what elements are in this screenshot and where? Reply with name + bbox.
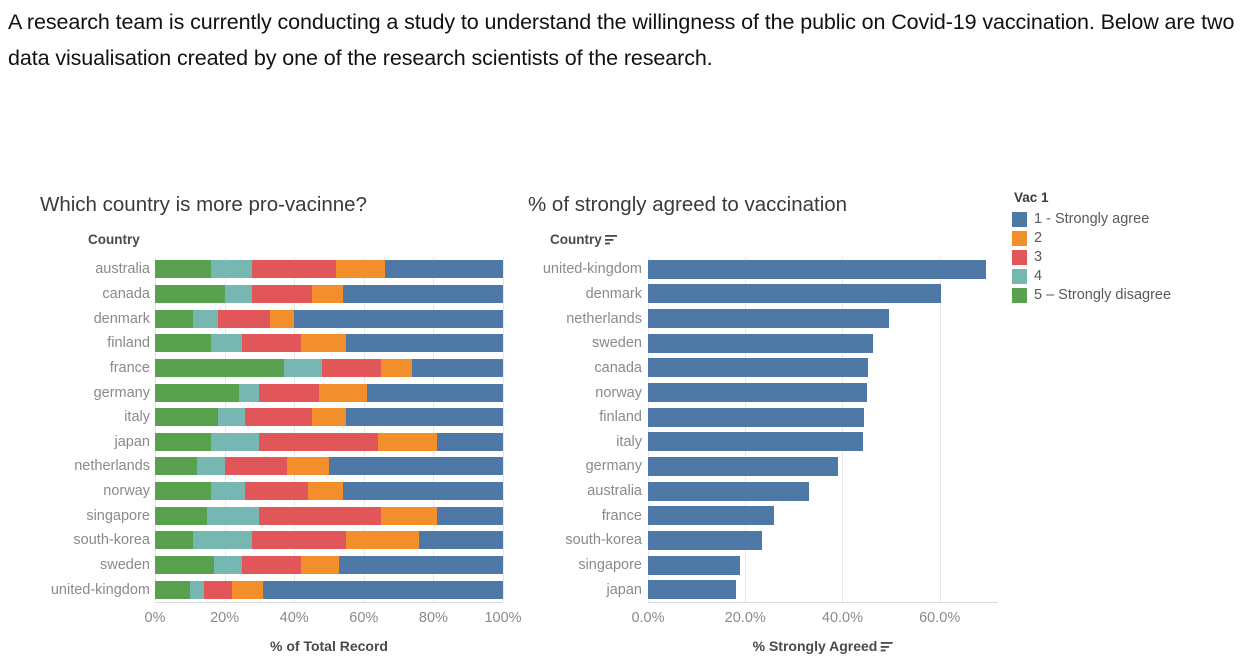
- bar-segment[interactable]: [270, 310, 294, 328]
- legend-item-label: 1 - Strongly agree: [1034, 211, 1149, 227]
- y-axis-label: finland: [0, 336, 150, 351]
- bar-segment[interactable]: [284, 359, 322, 377]
- bar-segment[interactable]: [381, 359, 412, 377]
- legend-item[interactable]: 1 - Strongly agree: [1012, 211, 1246, 227]
- y-axis-label: netherlands: [0, 459, 150, 474]
- bar-segment[interactable]: [346, 334, 503, 352]
- bar-segment[interactable]: [259, 384, 318, 402]
- x-axis-line: [648, 602, 998, 603]
- bar-segment[interactable]: [245, 408, 311, 426]
- bar-segment[interactable]: [245, 482, 308, 500]
- bar-segment[interactable]: [155, 334, 211, 352]
- bar-segment[interactable]: [412, 359, 502, 377]
- bar-row[interactable]: [648, 309, 998, 328]
- bar-segment[interactable]: [648, 580, 736, 599]
- left-chart-row-header-label: Country: [88, 232, 140, 247]
- y-axis-label: denmark: [520, 287, 642, 302]
- intro-paragraph: A research team is currently conducting …: [8, 4, 1238, 76]
- right-chart-row-header[interactable]: Country: [550, 232, 618, 248]
- bar-row[interactable]: [155, 359, 503, 377]
- bar-segment[interactable]: [312, 408, 347, 426]
- legend-item-label: 4: [1034, 268, 1042, 284]
- bar-segment[interactable]: [346, 408, 503, 426]
- bar-segment[interactable]: [648, 358, 868, 377]
- y-axis-label: denmark: [0, 312, 150, 327]
- bar-segment[interactable]: [437, 433, 503, 451]
- y-axis-label: italy: [520, 435, 642, 450]
- bar-segment[interactable]: [648, 556, 740, 575]
- x-axis-title[interactable]: % Strongly Agreed: [753, 638, 894, 655]
- bar-row[interactable]: [648, 457, 998, 476]
- legend-items: 1 - Strongly agree2345 – Strongly disagr…: [1012, 211, 1246, 303]
- bar-row[interactable]: [648, 383, 998, 402]
- bar-row[interactable]: [155, 433, 503, 451]
- bar-segment[interactable]: [648, 309, 889, 328]
- legend-item-label: 3: [1034, 249, 1042, 265]
- x-axis-title-label: % Strongly Agreed: [753, 638, 878, 654]
- bar-segment[interactable]: [301, 556, 339, 574]
- bar-segment[interactable]: [211, 334, 242, 352]
- right-chart-plot-area: [648, 257, 998, 602]
- y-axis-label: germany: [0, 386, 150, 401]
- bar-segment[interactable]: [308, 482, 343, 500]
- bar-row[interactable]: [648, 556, 998, 575]
- bar-row[interactable]: [155, 285, 503, 303]
- y-axis-label: sweden: [0, 558, 150, 573]
- bar-segment[interactable]: [207, 507, 259, 525]
- bar-segment[interactable]: [339, 556, 503, 574]
- bar-segment[interactable]: [242, 334, 301, 352]
- legend-item[interactable]: 4: [1012, 268, 1246, 284]
- bar-segment[interactable]: [287, 457, 329, 475]
- x-axis-line: [155, 602, 503, 603]
- bar-segment[interactable]: [648, 284, 941, 303]
- bar-segment[interactable]: [155, 359, 284, 377]
- bar-segment[interactable]: [346, 531, 419, 549]
- right-chart-panel: % of strongly agreed to vaccination Coun…: [520, 185, 1010, 665]
- bar-segment[interactable]: [155, 433, 211, 451]
- bar-row[interactable]: [155, 507, 503, 525]
- x-axis-tick-label: 40%: [280, 610, 309, 626]
- bar-segment[interactable]: [648, 482, 809, 501]
- y-axis-label: canada: [520, 361, 642, 376]
- bar-segment[interactable]: [155, 260, 211, 278]
- bar-segment[interactable]: [155, 507, 207, 525]
- x-axis-title-label: % of Total Record: [270, 638, 388, 654]
- bar-row[interactable]: [648, 506, 998, 525]
- left-chart-title: Which country is more pro-vacinne?: [40, 193, 367, 217]
- y-axis-label: canada: [0, 287, 150, 302]
- bar-segment[interactable]: [648, 334, 873, 353]
- bar-segment[interactable]: [648, 408, 864, 427]
- y-axis-label: australia: [520, 484, 642, 499]
- bar-segment[interactable]: [301, 334, 346, 352]
- left-chart-row-header: Country: [88, 232, 140, 247]
- bar-segment[interactable]: [155, 482, 211, 500]
- bar-segment[interactable]: [252, 260, 336, 278]
- bar-row[interactable]: [155, 260, 503, 278]
- bar-segment[interactable]: [648, 432, 863, 451]
- bar-segment[interactable]: [343, 285, 503, 303]
- bar-segment[interactable]: [648, 506, 774, 525]
- bar-segment[interactable]: [259, 433, 377, 451]
- y-axis-label: italy: [0, 410, 150, 425]
- y-axis-label: japan: [520, 583, 642, 598]
- left-chart-plot-area: [155, 257, 503, 602]
- bar-segment[interactable]: [336, 260, 385, 278]
- y-axis-label: finland: [520, 410, 642, 425]
- x-axis-tick-label: 100%: [484, 610, 521, 626]
- bar-segment[interactable]: [252, 531, 346, 549]
- bar-row[interactable]: [155, 408, 503, 426]
- x-axis-title: % of Total Record: [270, 638, 388, 654]
- bar-segment[interactable]: [648, 457, 838, 476]
- legend-panel: Vac 1 1 - Strongly agree2345 – Strongly …: [1012, 190, 1246, 330]
- legend-item[interactable]: 5 – Strongly disagree: [1012, 287, 1246, 303]
- y-axis-label: norway: [520, 386, 642, 401]
- x-axis-tick-label: 60.0%: [919, 610, 960, 626]
- bar-segment[interactable]: [378, 433, 437, 451]
- bar-row[interactable]: [648, 358, 998, 377]
- y-axis-label: south-korea: [520, 533, 642, 548]
- bar-segment[interactable]: [252, 285, 311, 303]
- bar-segment[interactable]: [214, 556, 242, 574]
- right-chart-title: % of strongly agreed to vaccination: [528, 193, 847, 217]
- bar-segment[interactable]: [193, 310, 217, 328]
- legend-item-label: 2: [1034, 230, 1042, 246]
- bar-row[interactable]: [155, 556, 503, 574]
- bar-segment[interactable]: [211, 482, 246, 500]
- bar-segment[interactable]: [419, 531, 503, 549]
- y-axis-label: singapore: [0, 509, 150, 524]
- bar-segment[interactable]: [225, 285, 253, 303]
- y-axis-label: netherlands: [520, 312, 642, 327]
- legend-swatch-icon: [1012, 269, 1027, 284]
- y-axis-label: australia: [0, 262, 150, 277]
- y-axis-label: france: [520, 509, 642, 524]
- legend-swatch-icon: [1012, 288, 1027, 303]
- y-axis-label: united-kingdom: [520, 262, 642, 277]
- bar-segment[interactable]: [263, 581, 503, 599]
- x-axis-tick-label: 20.0%: [725, 610, 766, 626]
- bar-row[interactable]: [648, 260, 998, 279]
- bar-row[interactable]: [648, 580, 998, 599]
- left-chart-panel: Which country is more pro-vacinne? Count…: [0, 185, 520, 665]
- bar-segment[interactable]: [648, 383, 867, 402]
- gridline: [503, 257, 504, 602]
- bar-row[interactable]: [155, 384, 503, 402]
- bar-segment[interactable]: [155, 556, 214, 574]
- x-axis-tick-label: 0.0%: [631, 610, 664, 626]
- y-axis-label: germany: [520, 459, 642, 474]
- bar-segment[interactable]: [319, 384, 368, 402]
- bar-segment[interactable]: [218, 310, 270, 328]
- bar-segment[interactable]: [155, 408, 218, 426]
- x-axis-tick-label: 60%: [349, 610, 378, 626]
- bar-segment[interactable]: [155, 531, 193, 549]
- bar-row[interactable]: [648, 408, 998, 427]
- bar-row[interactable]: [155, 482, 503, 500]
- bar-segment[interactable]: [190, 581, 204, 599]
- right-chart-row-header-label: Country: [550, 232, 602, 247]
- x-axis-tick-label: 40.0%: [822, 610, 863, 626]
- bar-segment[interactable]: [367, 384, 503, 402]
- bar-segment[interactable]: [155, 581, 190, 599]
- legend-item-label: 5 – Strongly disagree: [1034, 287, 1171, 303]
- y-axis-label: united-kingdom: [0, 583, 150, 598]
- y-axis-label: south-korea: [0, 533, 150, 548]
- bar-segment[interactable]: [322, 359, 381, 377]
- bar-segment[interactable]: [329, 457, 503, 475]
- y-axis-label: japan: [0, 435, 150, 450]
- legend-swatch-icon: [1012, 212, 1027, 227]
- legend-item[interactable]: 3: [1012, 249, 1246, 265]
- bar-segment[interactable]: [211, 260, 253, 278]
- x-axis-tick-label: 80%: [419, 610, 448, 626]
- x-axis-tick-label: 20%: [210, 610, 239, 626]
- bar-segment[interactable]: [259, 507, 381, 525]
- bar-row[interactable]: [155, 531, 503, 549]
- bar-segment[interactable]: [239, 384, 260, 402]
- bar-row[interactable]: [155, 334, 503, 352]
- bar-row[interactable]: [648, 432, 998, 451]
- bar-row[interactable]: [155, 457, 503, 475]
- y-axis-label: singapore: [520, 558, 642, 573]
- bar-segment[interactable]: [155, 384, 239, 402]
- sort-descending-icon[interactable]: [880, 639, 893, 655]
- bar-segment[interactable]: [312, 285, 343, 303]
- bar-segment[interactable]: [155, 285, 225, 303]
- bar-segment[interactable]: [155, 457, 197, 475]
- bar-row[interactable]: [155, 581, 503, 599]
- legend-swatch-icon: [1012, 250, 1027, 265]
- bar-segment[interactable]: [385, 260, 503, 278]
- bar-segment[interactable]: [381, 507, 437, 525]
- bar-segment[interactable]: [225, 457, 288, 475]
- bar-segment[interactable]: [242, 556, 301, 574]
- bar-segment[interactable]: [648, 260, 986, 279]
- sort-descending-icon[interactable]: [605, 233, 618, 248]
- legend-title: Vac 1: [1014, 190, 1246, 205]
- legend-item[interactable]: 2: [1012, 230, 1246, 246]
- x-axis-tick-label: 0%: [145, 610, 166, 626]
- bar-segment[interactable]: [197, 457, 225, 475]
- bar-segment[interactable]: [232, 581, 263, 599]
- legend-swatch-icon: [1012, 231, 1027, 246]
- bar-row[interactable]: [155, 310, 503, 328]
- bar-segment[interactable]: [648, 531, 762, 550]
- bar-row[interactable]: [648, 482, 998, 501]
- bar-row[interactable]: [648, 284, 998, 303]
- bar-row[interactable]: [648, 531, 998, 550]
- bar-segment[interactable]: [155, 310, 193, 328]
- y-axis-label: france: [0, 361, 150, 376]
- bar-segment[interactable]: [204, 581, 232, 599]
- y-axis-label: sweden: [520, 336, 642, 351]
- bar-segment[interactable]: [343, 482, 503, 500]
- bar-segment[interactable]: [193, 531, 252, 549]
- bar-segment[interactable]: [294, 310, 503, 328]
- bar-row[interactable]: [648, 334, 998, 353]
- bar-segment[interactable]: [211, 433, 260, 451]
- y-axis-label: norway: [0, 484, 150, 499]
- bar-segment[interactable]: [218, 408, 246, 426]
- bar-segment[interactable]: [437, 507, 503, 525]
